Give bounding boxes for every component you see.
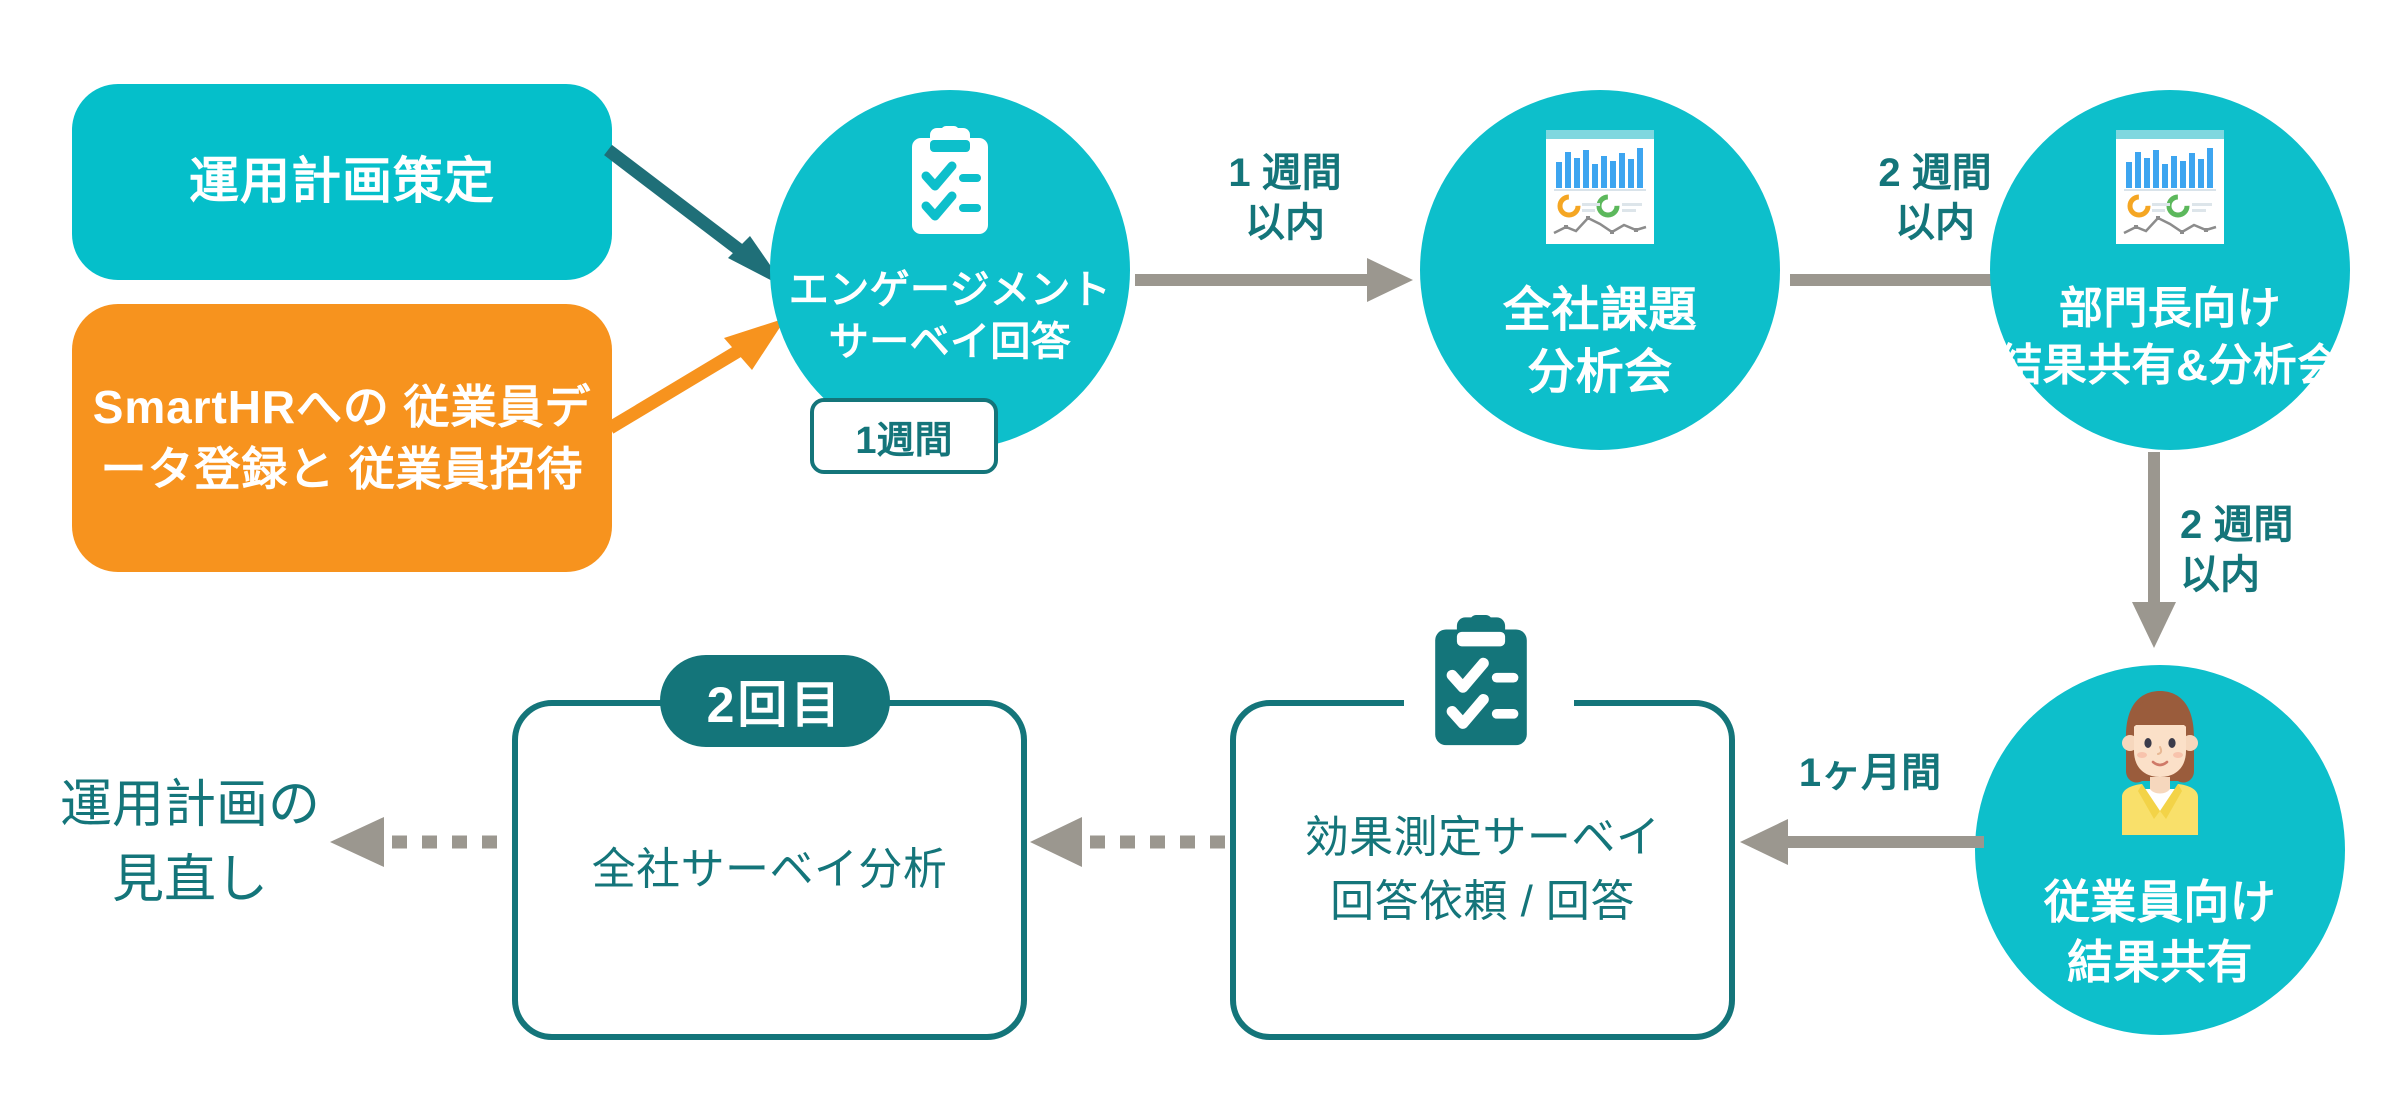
connector-effect-to-company-analysis xyxy=(1030,812,1230,872)
bottom-box-effect-survey[interactable]: 効果測定サーベイ 回答依頼 / 回答 xyxy=(1230,700,1735,1040)
step-circle-employee-share[interactable]: 従業員向け 結果共有 xyxy=(1975,665,2345,1035)
clipboard-checklist-icon xyxy=(904,126,996,238)
connector-label-employee-to-effect: 1ヶ月間 xyxy=(1760,748,1980,798)
prep-box-plan[interactable]: 運用計画策定 xyxy=(72,84,612,280)
connector-label-dept-to-employee: 2 週間 以内 xyxy=(2180,500,2380,600)
dashboard-chart-icon xyxy=(1544,128,1656,246)
step-circle-company-issue-analysis[interactable]: 全社課題 分析会 xyxy=(1420,90,1780,450)
step-circle-department-head-share-label: 部門長向け 結果共有&分析会 xyxy=(1990,280,2350,394)
diagram-canvas: 運用計画策定 SmartHRへの 従業員データ登録と 従業員招待 エンゲージメ xyxy=(0,0,2400,1103)
prep-box-smarthr-register[interactable]: SmartHRへの 従業員データ登録と 従業員招待 xyxy=(72,304,612,572)
connector-company-analysis-to-review xyxy=(330,812,515,872)
bottom-box-company-survey-analysis-label: 全社サーベイ分析 xyxy=(592,838,948,902)
bottom-box-company-survey-analysis[interactable]: 全社サーベイ分析 xyxy=(512,700,1027,1040)
step-circle-engagement-survey-label: エンゲージメント サーベイ回答 xyxy=(770,264,1130,368)
connector-survey-to-analysis xyxy=(1135,250,1435,310)
dashboard-chart-icon xyxy=(2114,128,2226,246)
connector-label-survey-to-analysis: 1 週間 以内 xyxy=(1165,148,1405,248)
duration-badge-one-week: 1週間 xyxy=(810,398,998,474)
prep-box-plan-label: 運用計画策定 xyxy=(189,148,495,216)
prep-box-smarthr-register-label: SmartHRへの 従業員データ登録と 従業員招待 xyxy=(72,376,612,500)
bottom-box-effect-survey-label: 効果測定サーベイ 回答依頼 / 回答 xyxy=(1305,806,1661,934)
connector-employee-to-effect xyxy=(1740,812,1990,872)
end-label-plan-review: 運用計画の 見直し xyxy=(50,768,330,919)
step-circle-engagement-survey[interactable]: エンゲージメント サーベイ回答 xyxy=(770,90,1130,450)
duration-badge-one-week-label: 1週間 xyxy=(855,409,952,464)
clipboard-checklist-icon xyxy=(1425,615,1537,750)
step-circle-department-head-share[interactable]: 部門長向け 結果共有&分析会 xyxy=(1990,90,2350,450)
round-badge-second-time-label: 2回目 xyxy=(707,665,844,737)
step-circle-company-issue-analysis-label: 全社課題 分析会 xyxy=(1420,280,1780,405)
round-badge-second-time: 2回目 xyxy=(660,655,890,747)
person-avatar-icon xyxy=(2108,685,2212,835)
step-circle-employee-share-label: 従業員向け 結果共有 xyxy=(1975,873,2345,993)
